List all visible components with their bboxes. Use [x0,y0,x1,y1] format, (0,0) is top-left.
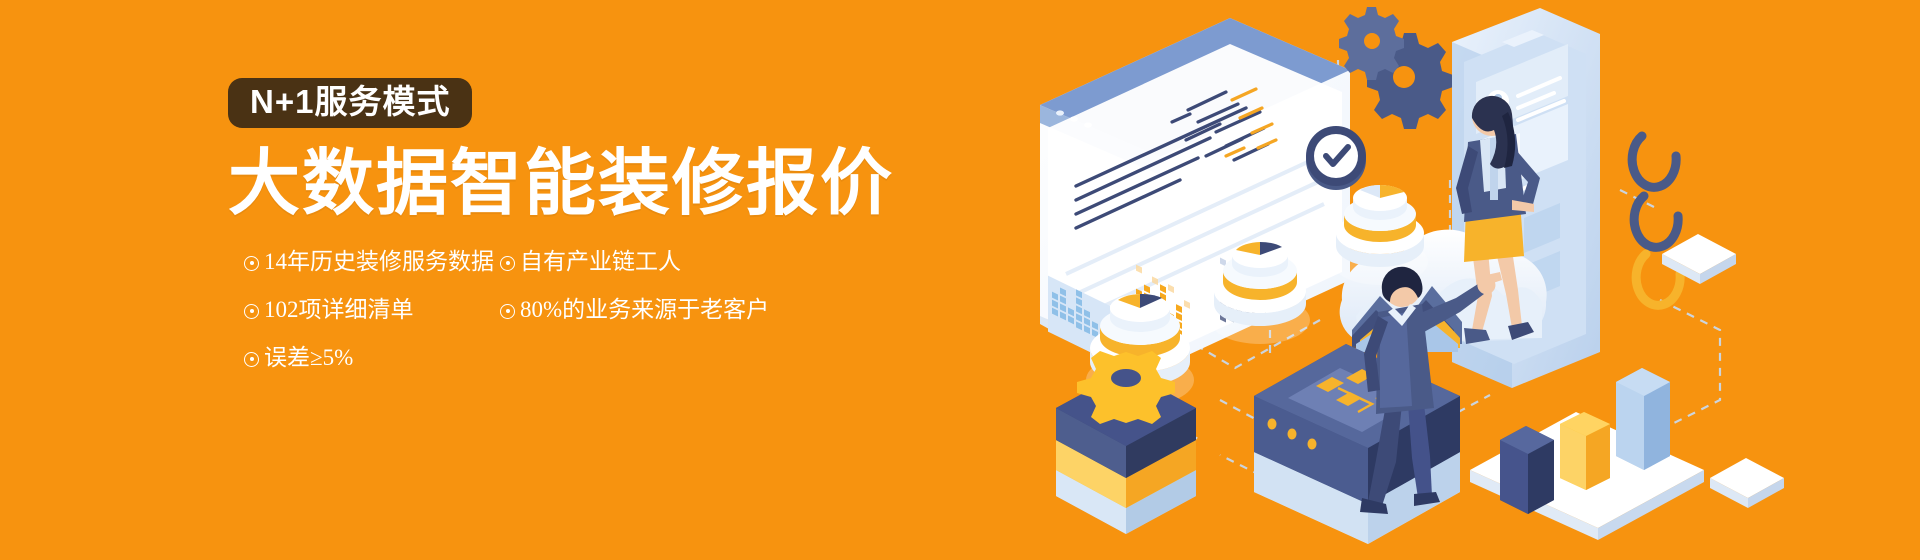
list-item-label: 14年历史装修服务数据 [264,250,494,273]
bullet-column-right: 自有产业链工人 80%的业务来源于老客户 [500,250,769,346]
promo-banner: N+1服务模式 大数据智能装修报价 14年历史装修服务数据 102项详细清单 误… [0,0,1920,560]
circled-dot-icon [500,256,515,271]
list-item: 自有产业链工人 [500,250,769,273]
banner-text-block: N+1服务模式 大数据智能装修报价 14年历史装修服务数据 102项详细清单 误… [228,78,988,250]
list-item: 80%的业务来源于老客户 [500,298,769,321]
list-item-label: 102项详细清单 [264,298,414,321]
list-item: 误差≥5% [244,346,494,369]
list-item-label: 自有产业链工人 [520,250,681,273]
list-item: 102项详细清单 [244,298,494,321]
list-item-label: 80%的业务来源于老客户 [520,298,769,321]
list-item: 14年历史装修服务数据 [244,250,494,273]
isometric-big-data-illustration [1020,0,1920,560]
circled-dot-icon [244,256,259,271]
checkmark-badge-icon [1306,126,1366,190]
bar-chart-3d [1470,368,1704,540]
floating-card-3 [1710,458,1784,508]
ring-icon-2 [1634,196,1678,247]
list-item-label: 误差≥5% [264,346,353,369]
circled-dot-icon [244,304,259,319]
page-title: 大数据智能装修报价 [228,146,988,224]
circled-dot-icon [244,352,259,367]
service-model-badge: N+1服务模式 [228,78,472,128]
bullet-column-left: 14年历史装修服务数据 102项详细清单 误差≥5% [244,250,494,394]
ring-icon-1 [1632,136,1676,187]
circled-dot-icon [500,304,515,319]
gear-small-icon [1339,7,1404,80]
